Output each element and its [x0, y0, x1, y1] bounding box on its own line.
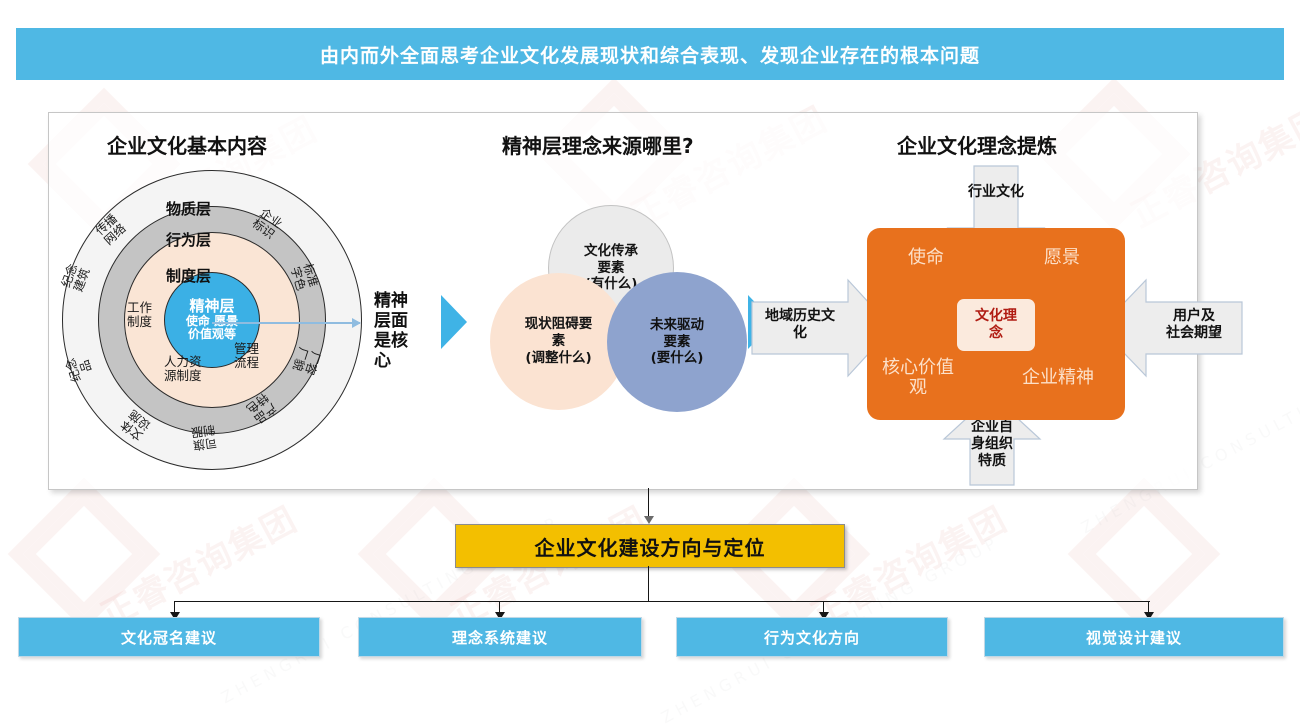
- ring-label-material: 物质层: [166, 198, 211, 219]
- venn-label: 现状阻碍要素(调整什么): [525, 316, 593, 367]
- deliverable-label: 理念系统建议: [452, 627, 548, 648]
- core-pointer-arrow: [212, 322, 360, 324]
- venn-label: 未来驱动要素(要什么): [650, 317, 704, 368]
- header-banner: 由内而外全面思考企业文化发展现状和综合表现、发现企业存在的根本问题: [16, 28, 1284, 80]
- watermark-diamond: [30, 500, 138, 608]
- deliverable-box-2[interactable]: 理念系统建议: [358, 617, 642, 657]
- quadrant-enterprise-spirit: 企业精神: [1012, 368, 1104, 388]
- quadrant-vision: 愿景: [1028, 248, 1096, 268]
- input-arrow-left-label: 地域历史文化: [754, 308, 846, 342]
- satellite-label: 人力资源制度: [164, 355, 202, 382]
- culture-philosophy-label: 文化理念: [975, 308, 1017, 342]
- satellite-label: 司旗制服: [190, 422, 217, 451]
- deliverable-box-4[interactable]: 视觉设计建议: [984, 617, 1284, 657]
- satellite-label: 工作制度: [127, 301, 152, 328]
- core-line-2: 价值观等: [188, 328, 236, 342]
- core-title: 精神层: [189, 298, 234, 315]
- input-arrow-top-label: 行业文化: [948, 184, 1044, 201]
- core-note-label: 精神层面是核心: [374, 292, 408, 372]
- banner-title: 由内而外全面思考企业文化发展现状和综合表现、发现企业存在的根本问题: [320, 41, 980, 68]
- input-arrow-right-label: 用户及社会期望: [1148, 308, 1240, 342]
- venn-circle-future-driver: 未来驱动要素(要什么): [607, 272, 747, 412]
- outcome-label: 企业文化建设方向与定位: [535, 532, 766, 561]
- ring-label-behavior: 行为层: [166, 229, 211, 250]
- connector-outcome-down: [648, 566, 649, 602]
- watermark-diamond: [1090, 500, 1198, 608]
- satellite-label: 管理流程: [234, 342, 259, 369]
- flow-triangle-1: [441, 295, 467, 349]
- quadrant-core-values: 核心价值观: [876, 358, 960, 398]
- watermark-text: 正睿咨询集团: [90, 540, 306, 589]
- outcome-box: 企业文化建设方向与定位: [455, 524, 845, 568]
- right-panel-title: 企业文化理念提炼: [897, 130, 1057, 159]
- deliverable-box-3[interactable]: 行为文化方向: [676, 617, 948, 657]
- left-panel-title: 企业文化基本内容: [107, 130, 267, 159]
- deliverable-box-1[interactable]: 文化冠名建议: [18, 617, 320, 657]
- culture-philosophy-box: 文化理念: [957, 299, 1035, 351]
- connector-bus: [174, 601, 1150, 602]
- deliverable-label: 视觉设计建议: [1086, 627, 1182, 648]
- deliverable-label: 行为文化方向: [764, 627, 860, 648]
- connector-arrowhead: [644, 516, 654, 524]
- quadrant-mission: 使命: [892, 248, 960, 268]
- input-arrow-bottom-label: 企业自身组织特质: [944, 419, 1040, 469]
- deliverable-label: 文化冠名建议: [121, 627, 217, 648]
- ring-label-institution: 制度层: [166, 265, 211, 286]
- mid-panel-title: 精神层理念来源哪里?: [502, 130, 694, 159]
- connector-panel-to-outcome: [648, 488, 649, 518]
